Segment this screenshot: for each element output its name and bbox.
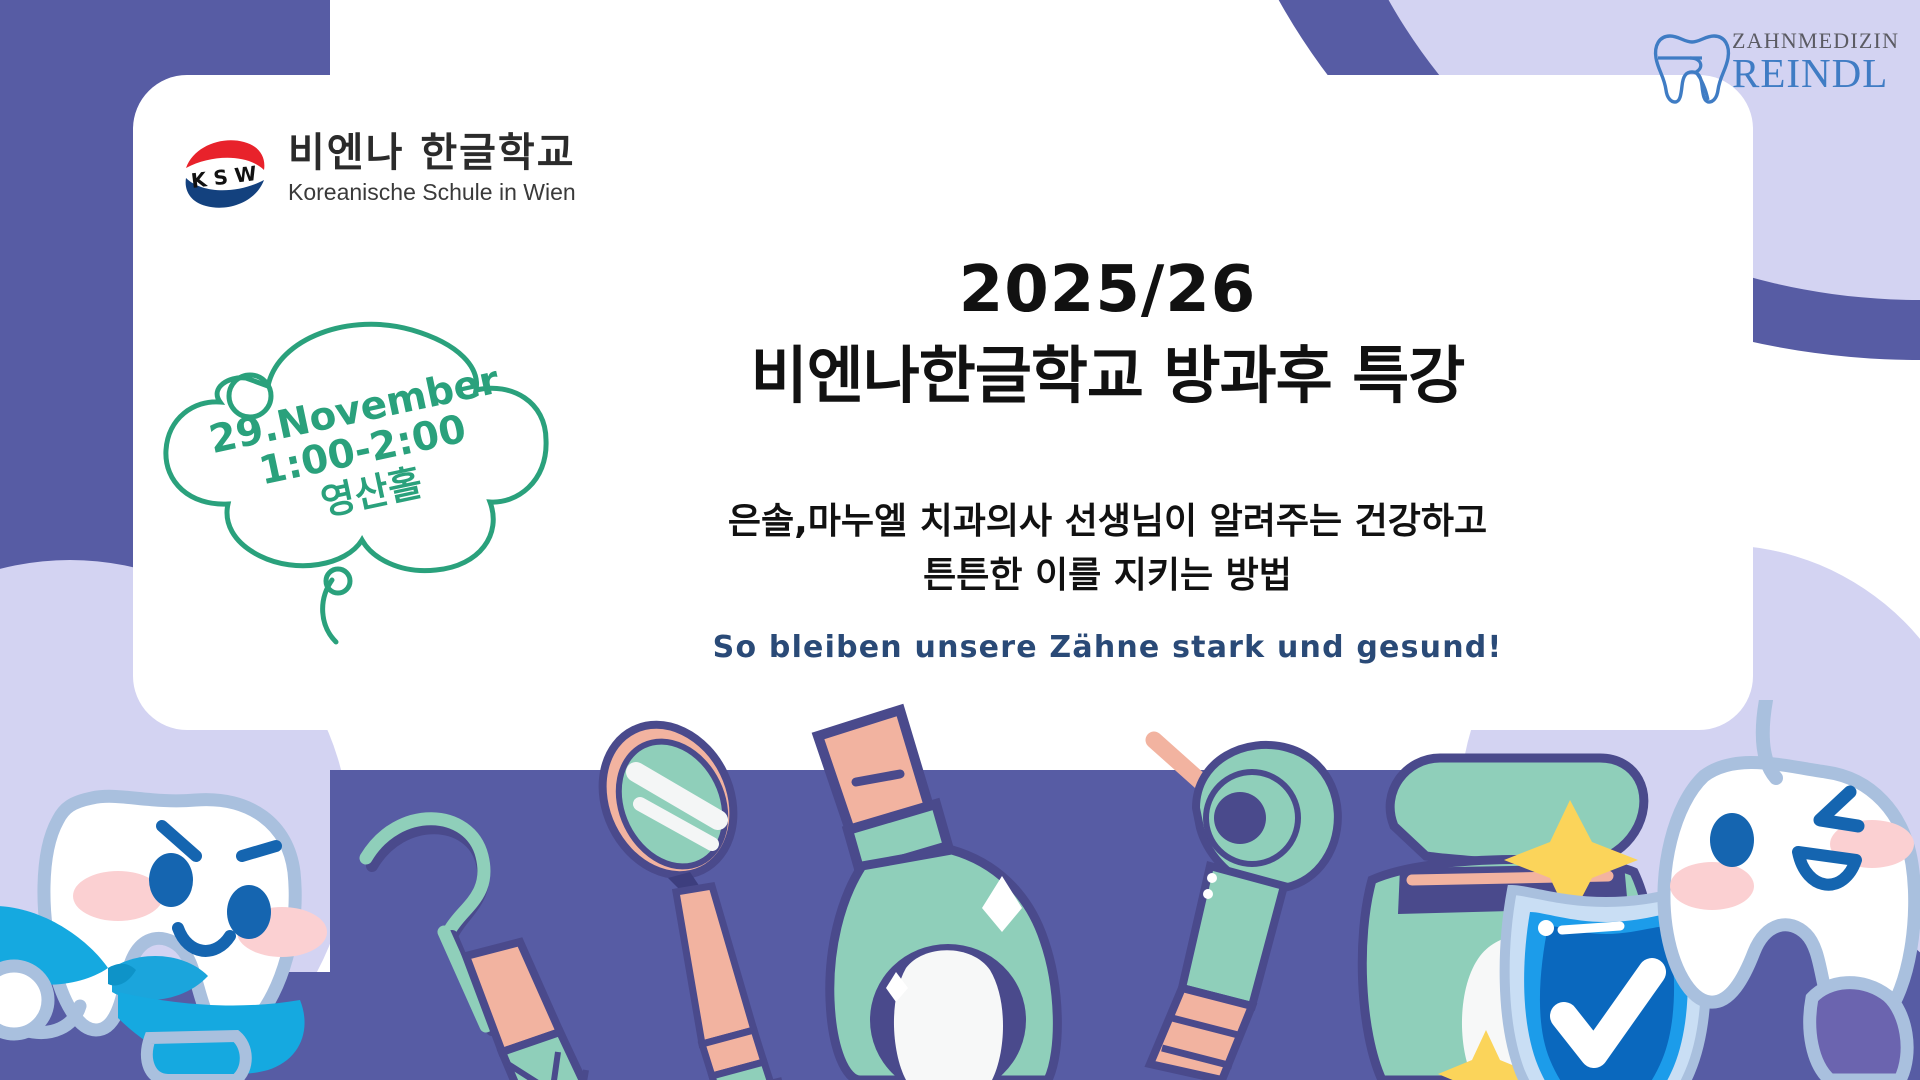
dental-mirror-icon: [578, 703, 796, 1080]
poster-canvas: K S W 비엔나 한글학교 Koreanische Schule in Wie…: [0, 0, 1920, 1080]
event-details-bubble: 29.November 1:00-2:00 영산홀: [150, 290, 570, 690]
school-name-german: Koreanische Schule in Wien: [288, 179, 576, 206]
school-name-korean: 비엔나 한글학교: [288, 132, 576, 174]
tooth-mascot-left-icon: [0, 796, 327, 1080]
subtitle-group: 은솔,마누엘 치과의사 선생님이 알려주는 건강하고 튼튼한 이를 지키는 방법: [640, 495, 1575, 603]
partner-logo-text: ZAHNMEDIZIN REINDL: [1732, 30, 1899, 95]
dental-drill-icon: [1150, 740, 1338, 1080]
partner-logo: ZAHNMEDIZIN REINDL: [1650, 20, 1900, 112]
ksw-taegeuk-mark-icon: K S W: [178, 128, 270, 220]
tooth-outline-icon: [1650, 24, 1734, 108]
toothpaste-tube-icon: [818, 710, 1057, 1080]
dental-explorer-hook-icon: [366, 819, 606, 1080]
school-logo: K S W 비엔나 한글학교 Koreanische Schule in Wie…: [178, 128, 578, 223]
partner-name-bottom: REINDL: [1732, 53, 1899, 95]
school-logo-text: 비엔나 한글학교 Koreanische Schule in Wien: [288, 132, 576, 206]
illustration-strip: [0, 700, 1920, 1080]
partner-name-top: ZAHNMEDIZIN: [1732, 30, 1899, 52]
subtitle-line-2: 튼튼한 이를 지키는 방법: [640, 549, 1575, 603]
german-tagline: So bleiben unsere Zähne stark und gesund…: [640, 630, 1575, 665]
school-year: 2025/26: [640, 255, 1575, 327]
headline-group: 2025/26 비엔나한글학교 방과후 특강: [640, 255, 1575, 414]
subtitle-line-1: 은솔,마누엘 치과의사 선생님이 알려주는 건강하고: [640, 495, 1575, 549]
event-title: 비엔나한글학교 방과후 특강: [640, 337, 1575, 415]
